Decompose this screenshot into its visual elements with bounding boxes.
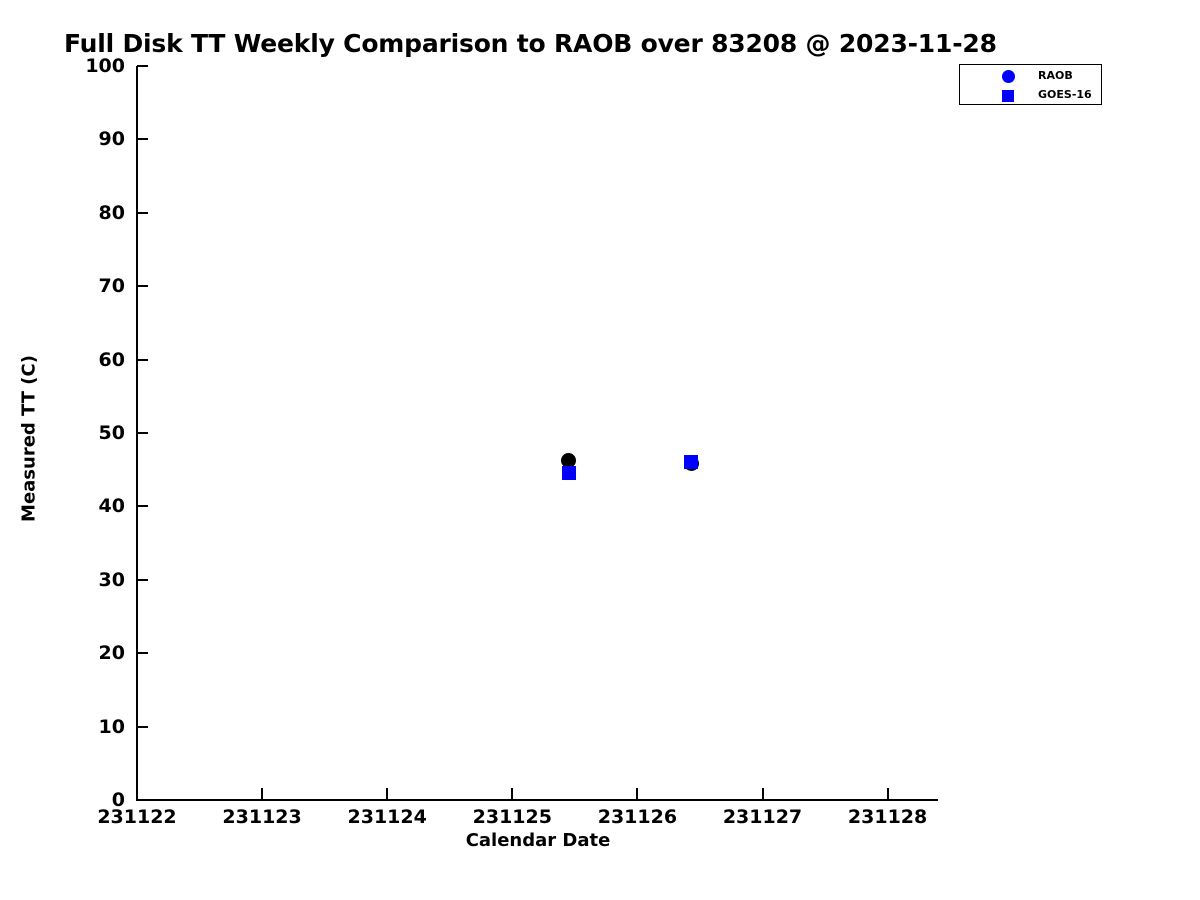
x-tick-label: 231127 [693,806,833,828]
legend-item-goes-16[interactable]: GOES-16 [960,86,1103,105]
y-tick-mark [137,799,148,801]
legend-label: RAOB [1038,69,1073,82]
y-tick-label: 10 [55,716,125,738]
data-point-goes-16 [684,455,698,469]
chart-figure: Full Disk TT Weekly Comparison to RAOB o… [0,0,1200,900]
page-title: Full Disk TT Weekly Comparison to RAOB o… [64,29,997,58]
x-tick-label: 231128 [818,806,958,828]
legend-square-icon [1002,90,1014,102]
chart-legend: RAOBGOES-16 [959,64,1102,105]
y-tick-label: 90 [55,128,125,150]
x-tick-label: 231126 [567,806,707,828]
y-axis-label: Measured TT (C) [19,289,40,589]
x-axis-line [136,799,938,801]
plot-area [137,66,938,799]
x-axis-label: Calendar Date [0,830,1076,851]
y-tick-label: 100 [55,55,125,77]
y-tick-label: 40 [55,495,125,517]
x-tick-label: 231124 [317,806,457,828]
x-tick-label: 231123 [192,806,332,828]
y-tick-label: 30 [55,569,125,591]
x-tick-label: 231125 [442,806,582,828]
data-point-goes-16 [562,466,576,480]
y-tick-label: 50 [55,422,125,444]
y-tick-label: 70 [55,275,125,297]
legend-item-raob[interactable]: RAOB [960,67,1103,86]
y-tick-label: 20 [55,642,125,664]
legend-label: GOES-16 [1038,88,1092,101]
y-tick-label: 80 [55,202,125,224]
x-tick-label: 231122 [67,806,207,828]
y-tick-label: 60 [55,349,125,371]
legend-circle-icon [1002,70,1015,83]
